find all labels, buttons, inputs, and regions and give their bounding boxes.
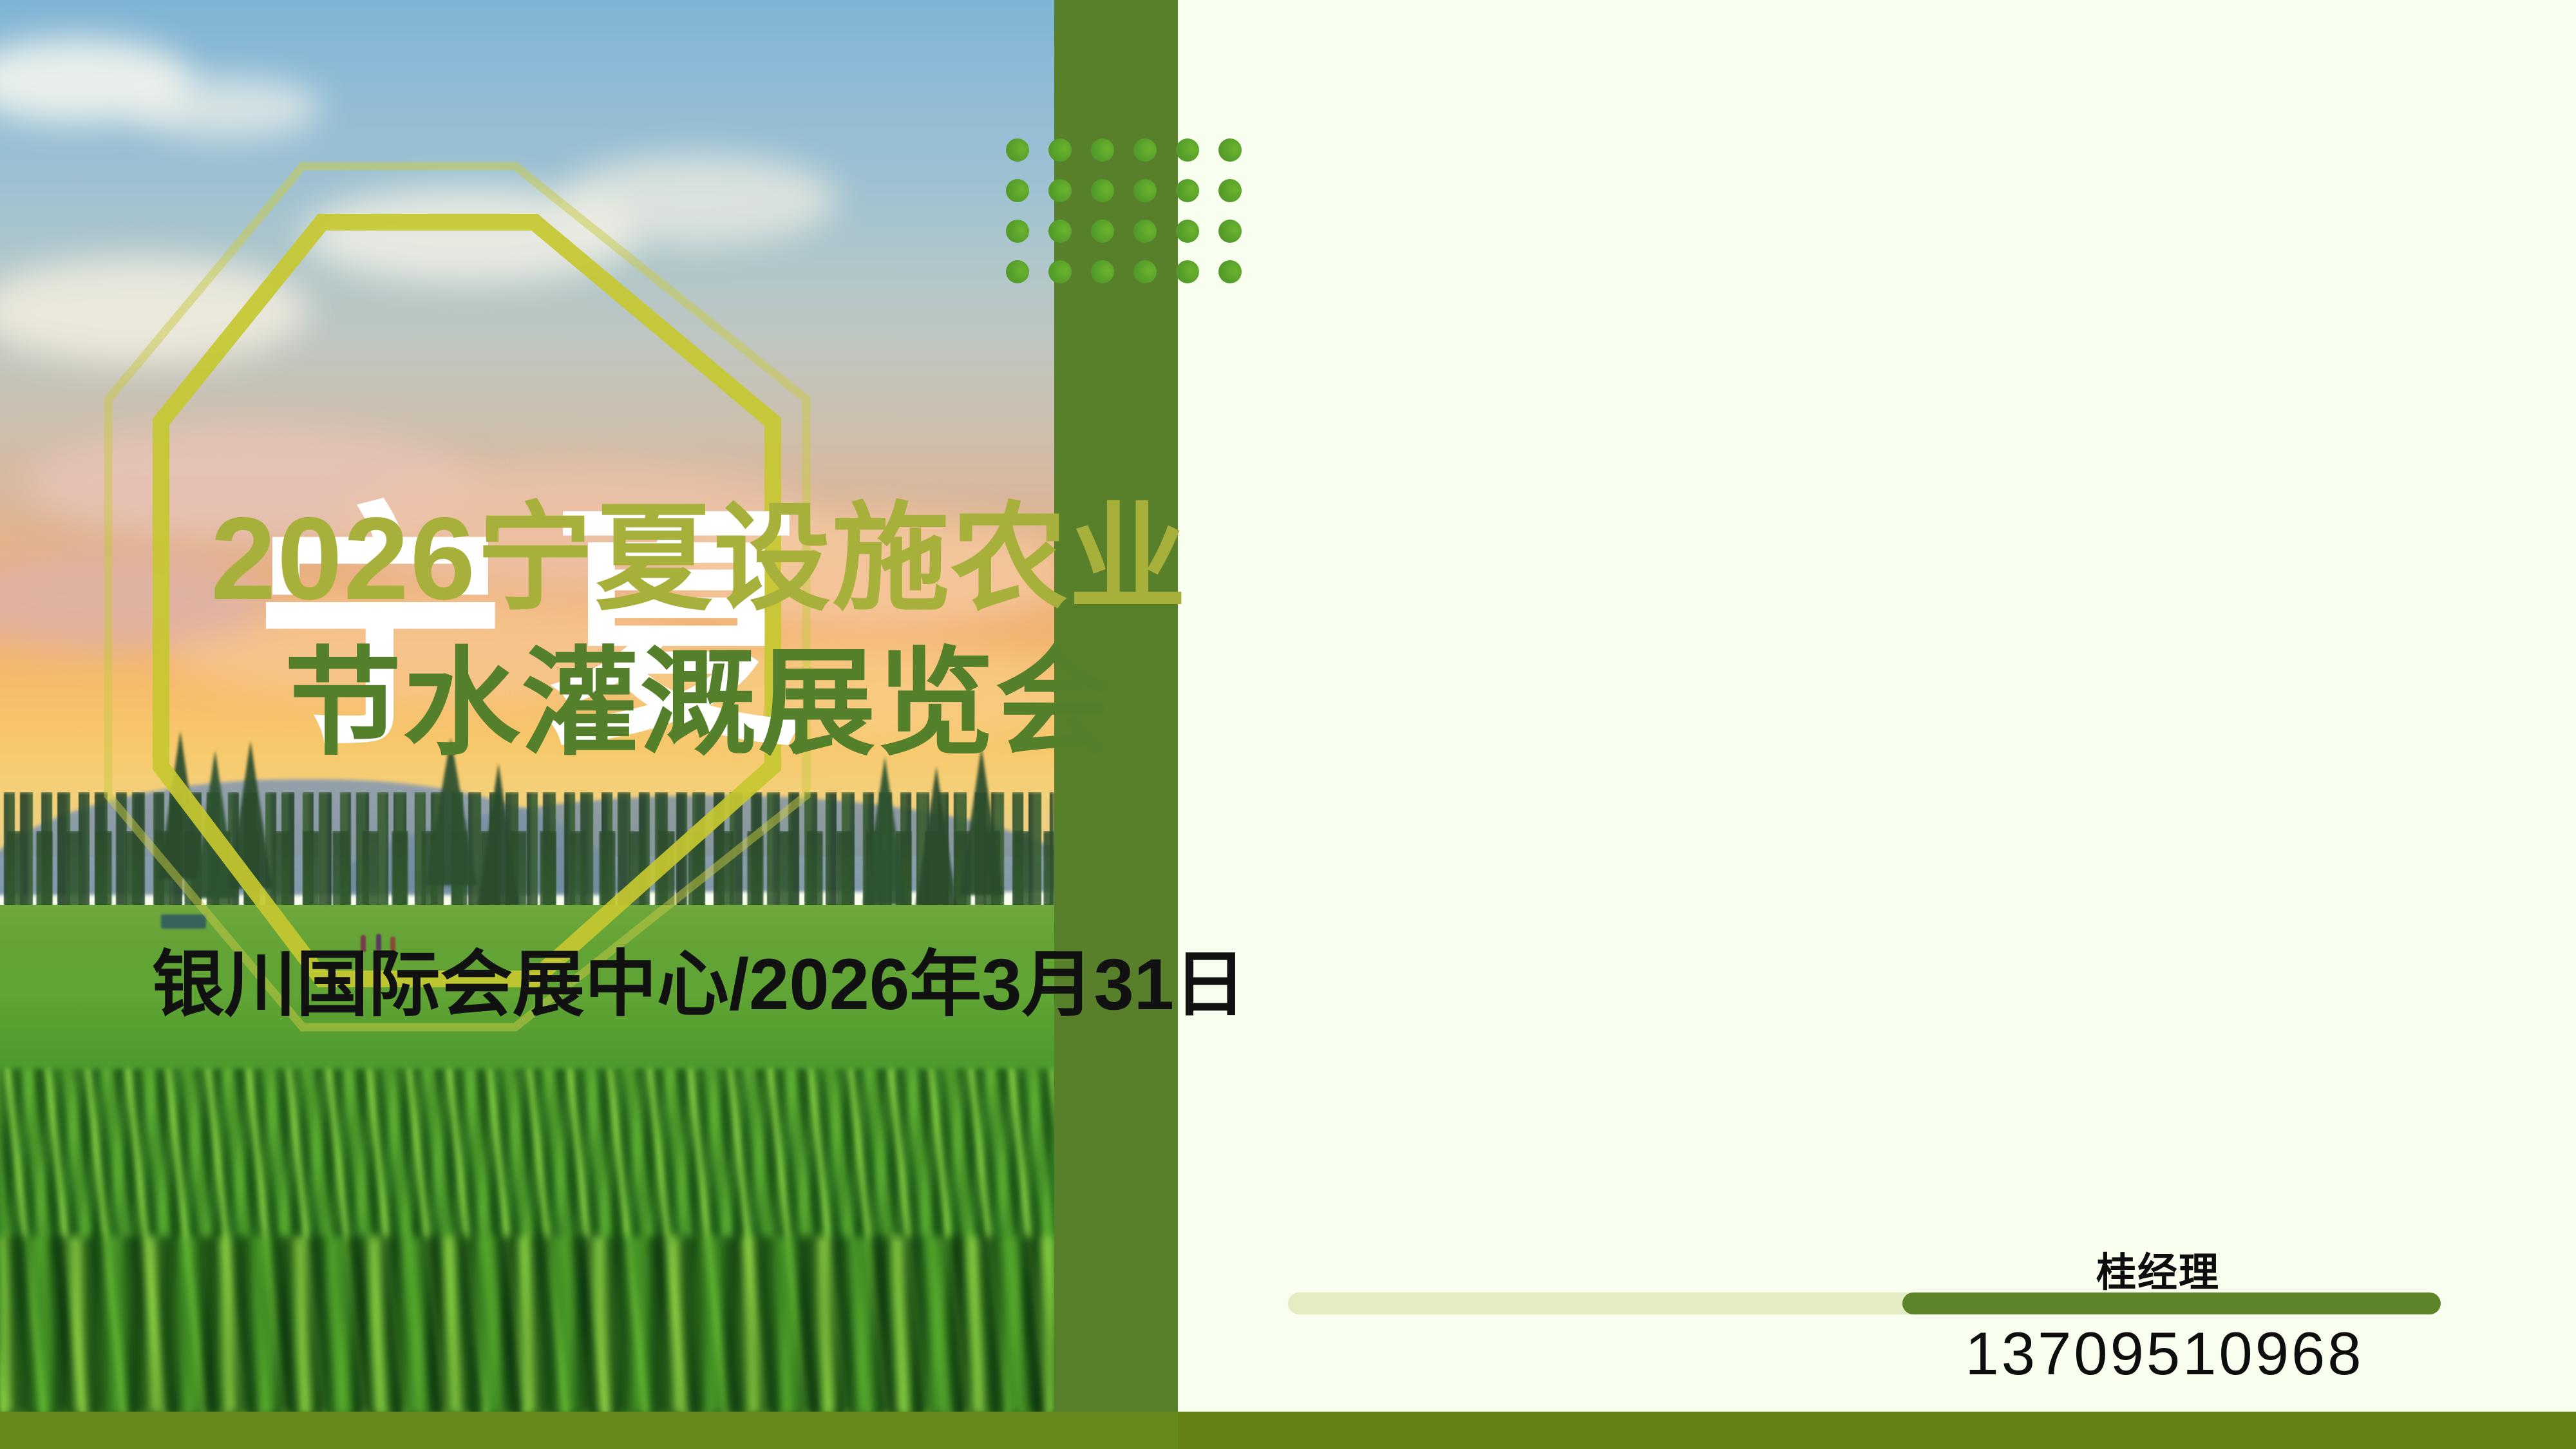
- dot: [1218, 220, 1242, 243]
- dot: [1176, 179, 1199, 202]
- contact-phone: 13709510968: [1913, 1319, 2416, 1388]
- dot: [1091, 138, 1114, 162]
- contact-name: 桂经理: [1913, 1240, 2403, 1298]
- dot: [1091, 179, 1114, 202]
- event-poster: 宁夏 2026宁夏设施农业 节水灌溉展览会 银川国际会展中: [0, 0, 2576, 1449]
- divider-bar: [1288, 1293, 2441, 1314]
- divider-bar-fill: [1902, 1293, 2441, 1314]
- dot: [1006, 260, 1029, 283]
- dot: [1218, 260, 1242, 283]
- venue-and-date: 银川国际会展中心/2026年3月31日: [0, 926, 1398, 1030]
- dot: [1133, 220, 1157, 243]
- dot: [1176, 138, 1199, 162]
- bottom-green-strip-left: [0, 1412, 1178, 1449]
- dot: [1091, 220, 1114, 243]
- dot: [1048, 260, 1072, 283]
- dot: [1133, 179, 1157, 202]
- dot: [1218, 179, 1242, 202]
- dot: [1006, 138, 1029, 162]
- dot: [1091, 260, 1114, 283]
- dot: [1006, 220, 1029, 243]
- dot: [1048, 179, 1072, 202]
- event-title: 2026宁夏设施农业 节水灌溉展览会: [0, 489, 1398, 773]
- dot: [1006, 179, 1029, 202]
- dot: [1218, 138, 1242, 162]
- dot-grid-decoration: [1006, 138, 1261, 301]
- dot: [1048, 220, 1072, 243]
- dot: [1133, 260, 1157, 283]
- dot: [1176, 220, 1199, 243]
- dot: [1048, 138, 1072, 162]
- dot: [1133, 138, 1157, 162]
- title-line-1: 2026宁夏设施农业: [0, 489, 1398, 628]
- dot: [1176, 260, 1199, 283]
- title-line-2: 节水灌溉展览会: [0, 634, 1398, 773]
